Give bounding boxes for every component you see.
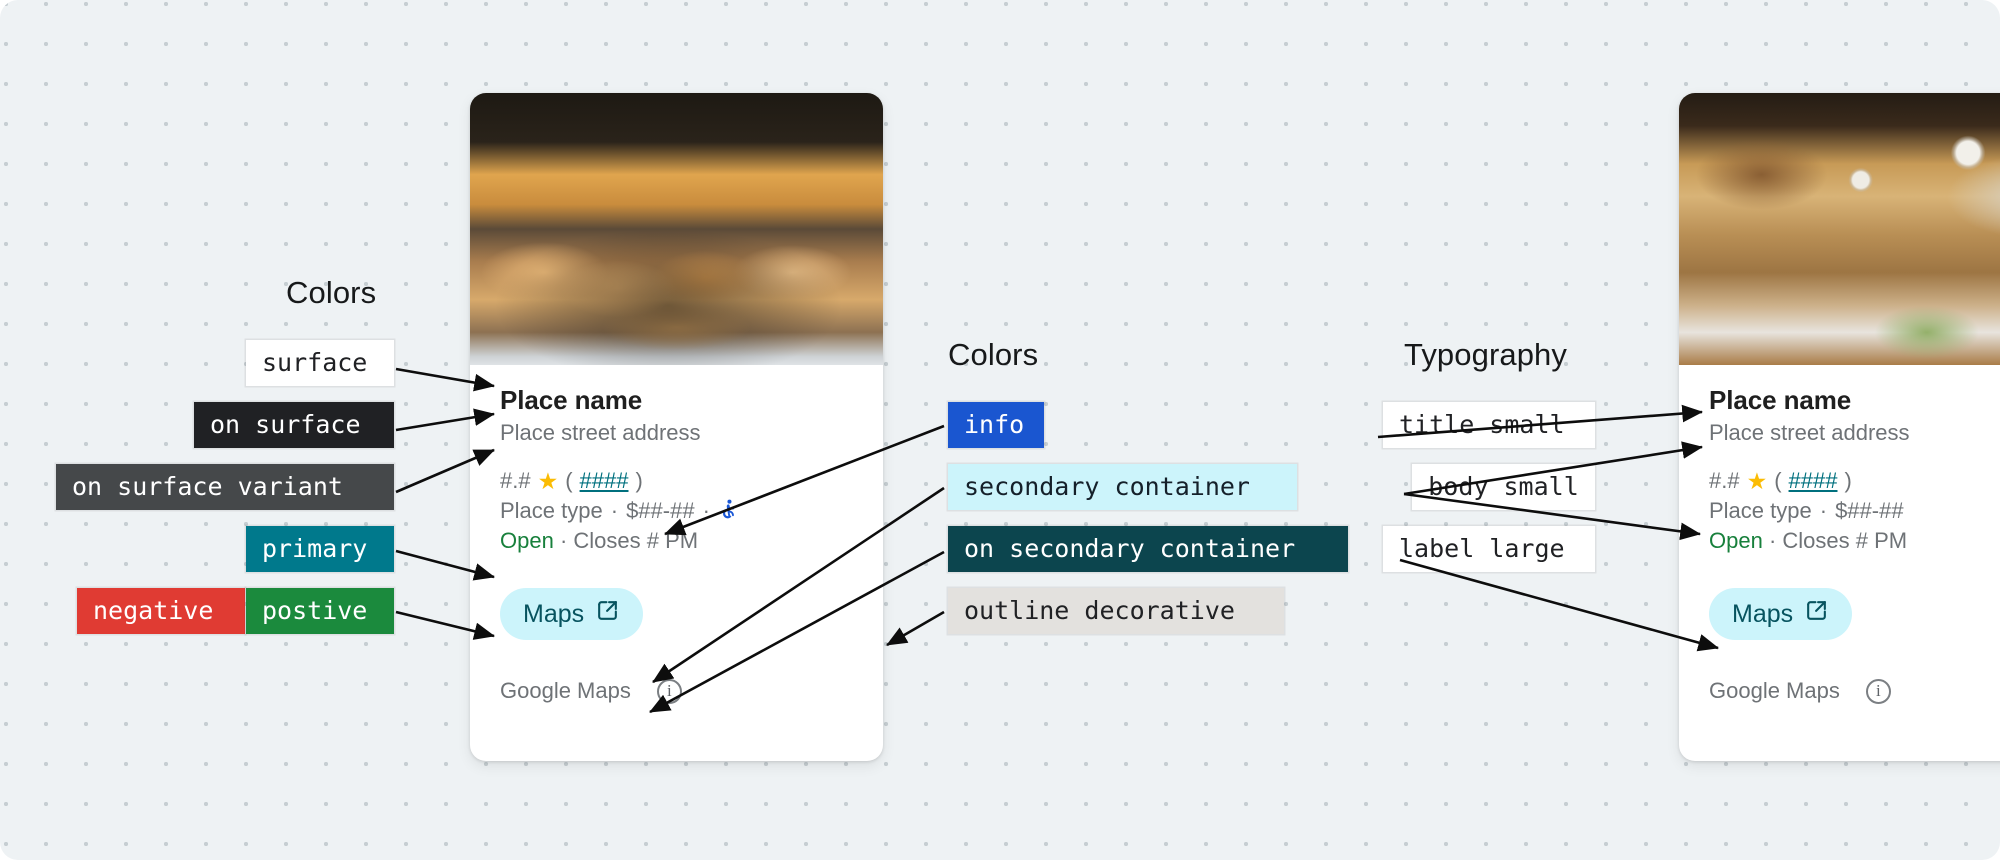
card-footer: Google Maps i <box>470 678 883 704</box>
separator-dot: · <box>611 498 618 524</box>
color-chip-label: surface <box>262 340 367 386</box>
closing-time: Closes # PM <box>573 528 698 553</box>
open-status: Open <box>500 528 554 553</box>
type-chip-label-large[interactable]: label large <box>1383 526 1595 572</box>
place-card-right: Place name Place street address #.# ★ (#… <box>1679 93 2000 761</box>
color-chip-label: postive <box>262 588 367 634</box>
place-card-body: Place name Place street address #.# ★ (#… <box>1679 385 2000 640</box>
open-status: Open <box>1709 528 1763 553</box>
color-chip-negative[interactable]: negative <box>77 588 245 634</box>
wheelchair-accessible-icon <box>718 498 740 524</box>
review-close-paren: ) <box>1845 468 1852 494</box>
price-range: $##-## <box>1835 498 1904 524</box>
separator-dot: · <box>1820 498 1827 524</box>
maps-button-label: Maps <box>523 600 584 629</box>
review-open-paren: ( <box>565 468 572 494</box>
review-count-link[interactable]: #### <box>1789 468 1838 494</box>
place-meta-row: Place type · $##-## · <box>500 498 853 524</box>
color-chip-label: on secondary container <box>964 526 1295 572</box>
info-icon[interactable]: i <box>1866 679 1891 704</box>
color-chip-label: negative <box>93 588 213 634</box>
maps-button-label: Maps <box>1732 600 1793 629</box>
separator-dot: · <box>703 498 710 524</box>
color-chip-label: outline decorative <box>964 588 1235 634</box>
rating-row: #.# ★ (####) <box>500 468 853 494</box>
review-open-paren: ( <box>1774 468 1781 494</box>
place-name: Place name <box>500 385 853 416</box>
place-type: Place type <box>1709 498 1812 524</box>
rating-value: #.# <box>500 468 531 494</box>
color-chip-outline-decorative[interactable]: outline decorative <box>948 588 1284 634</box>
rating-value: #.# <box>1709 468 1740 494</box>
star-icon: ★ <box>538 470 559 493</box>
arrow-outline-decorative-to-card-divider <box>887 612 944 645</box>
card-footer: Google Maps i <box>1679 678 2000 704</box>
place-meta-row: Place type · $##-## <box>1709 498 2000 524</box>
color-chip-label: on surface variant <box>72 464 343 510</box>
section-title-typography: Typography <box>1404 337 1567 373</box>
arrow-label-large-to-maps-button <box>1400 560 1718 648</box>
place-card-middle: Place name Place street address #.# ★ (#… <box>470 93 883 761</box>
place-address: Place street address <box>500 420 853 446</box>
type-chip-title-small[interactable]: title small <box>1383 402 1595 448</box>
place-address: Place street address <box>1709 420 2000 446</box>
design-annotation-canvas: Colors Colors Typography surface on surf… <box>0 0 2000 860</box>
external-link-icon <box>1804 598 1829 630</box>
maps-button[interactable]: Maps <box>1709 588 1852 640</box>
place-type: Place type <box>500 498 603 524</box>
color-chip-label: on surface <box>210 402 361 448</box>
separator-dot: · <box>560 528 567 553</box>
color-chip-label: secondary container <box>964 464 1250 510</box>
review-close-paren: ) <box>636 468 643 494</box>
color-chip-on-surface[interactable]: on surface <box>194 402 394 448</box>
color-chip-label: primary <box>262 526 367 572</box>
type-chip-label: title small <box>1399 402 1565 448</box>
color-chip-surface[interactable]: surface <box>246 340 394 386</box>
place-hours-row: Open · Closes # PM <box>1709 528 2000 554</box>
maps-button[interactable]: Maps <box>500 588 643 640</box>
color-chip-info[interactable]: info <box>948 402 1044 448</box>
color-chip-postive[interactable]: postive <box>246 588 394 634</box>
google-maps-attribution: Google Maps <box>500 678 631 704</box>
closing-time: Closes # PM <box>1782 528 1907 553</box>
place-photo-image <box>470 93 883 365</box>
color-chip-label: info <box>964 402 1024 448</box>
place-name: Place name <box>1709 385 2000 416</box>
type-chip-label: label large <box>1399 526 1565 572</box>
rating-row: #.# ★ (####) <box>1709 468 2000 494</box>
price-range: $##-## <box>626 498 695 524</box>
review-count-link[interactable]: #### <box>580 468 629 494</box>
place-card-body: Place name Place street address #.# ★ (#… <box>470 385 883 640</box>
color-chip-primary[interactable]: primary <box>246 526 394 572</box>
google-maps-attribution: Google Maps <box>1709 678 1840 704</box>
color-chip-on-secondary-container[interactable]: on secondary container <box>948 526 1348 572</box>
type-chip-label: body small <box>1428 464 1579 510</box>
place-hours-row: Open · Closes # PM <box>500 528 853 554</box>
color-chip-secondary-container[interactable]: secondary container <box>948 464 1297 510</box>
place-photo-bakery <box>470 93 883 365</box>
section-title-colors-middle: Colors <box>948 337 1038 373</box>
place-photo-image <box>1679 93 2000 365</box>
external-link-icon <box>595 598 620 630</box>
section-title-colors-left: Colors <box>286 275 376 311</box>
color-chip-on-surface-variant[interactable]: on surface variant <box>56 464 394 510</box>
place-photo-cafe <box>1679 93 2000 365</box>
info-icon[interactable]: i <box>657 679 682 704</box>
type-chip-body-small[interactable]: body small <box>1412 464 1595 510</box>
separator-dot: · <box>1769 528 1776 553</box>
star-icon: ★ <box>1747 470 1768 493</box>
